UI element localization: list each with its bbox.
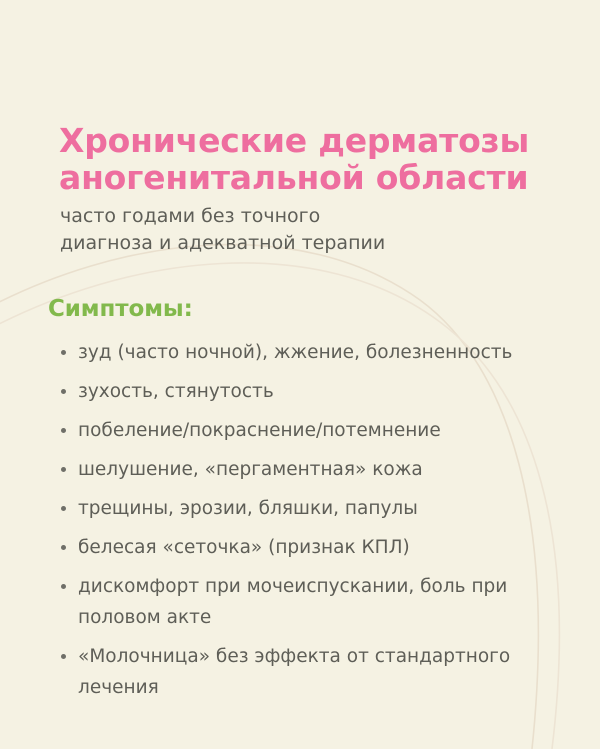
- symptoms-section-heading: Симптомы:: [48, 296, 193, 322]
- list-item-label: побеление/покраснение/потемнение: [78, 415, 578, 446]
- bullet-icon: [61, 654, 66, 659]
- list-item: шелушение, «пергаментная» кожа: [58, 454, 578, 485]
- list-item: «Молочница» без эффекта от стандартного …: [58, 641, 578, 703]
- list-item: дискомфорт при мочеиспускании, боль при …: [58, 571, 578, 633]
- slide-canvas: Хронические дерматозы аногенитальной обл…: [0, 0, 600, 749]
- list-item-label: зухость, стянутость: [78, 376, 578, 407]
- list-item: зухость, стянутость: [58, 376, 578, 407]
- list-item-label: трещины, эрозии, бляшки, папулы: [78, 493, 578, 524]
- bullet-icon: [61, 584, 66, 589]
- bullet-icon: [61, 467, 66, 472]
- page-subtitle: часто годами без точного диагноза и адек…: [60, 203, 540, 257]
- list-item-label: шелушение, «пергаментная» кожа: [78, 454, 578, 485]
- list-item: зуд (часто ночной), жжение, болезненност…: [58, 337, 578, 368]
- list-item: белесая «сеточка» (признак КПЛ): [58, 532, 578, 563]
- bullet-icon: [61, 428, 66, 433]
- bullet-icon: [61, 506, 66, 511]
- page-title: Хронические дерматозы аногенитальной обл…: [59, 122, 559, 196]
- list-item-label: зуд (часто ночной), жжение, болезненност…: [78, 337, 578, 368]
- list-item: трещины, эрозии, бляшки, папулы: [58, 493, 578, 524]
- list-item: побеление/покраснение/потемнение: [58, 415, 578, 446]
- bullet-icon: [61, 545, 66, 550]
- list-item-label: «Молочница» без эффекта от стандартного …: [78, 641, 578, 703]
- list-item-label: белесая «сеточка» (признак КПЛ): [78, 532, 578, 563]
- bullet-icon: [61, 350, 66, 355]
- bullet-icon: [61, 389, 66, 394]
- symptoms-list: зуд (часто ночной), жжение, болезненност…: [58, 337, 578, 711]
- list-item-label: дискомфорт при мочеиспускании, боль при …: [78, 571, 578, 633]
